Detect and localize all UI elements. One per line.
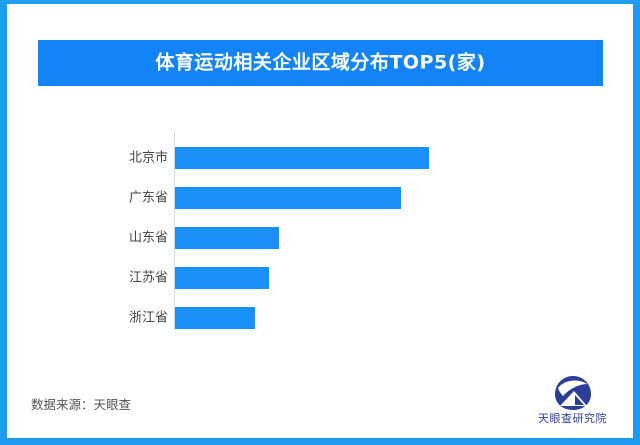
brand-logo: 天眼查研究院 [525,375,620,430]
bar-row: 浙江省 [7,298,633,338]
bar-row: 广东省 [7,178,633,218]
bar-category-label: 广东省 [48,192,168,205]
bar-zhejiang [175,307,255,329]
bar-category-label: 山东省 [48,232,168,245]
bar-category-label: 浙江省 [48,312,168,325]
bar-chart: 北京市 广东省 山东省 江苏省 [7,4,633,438]
bar-category-label: 北京市 [48,152,168,165]
bar-label-wrap: 北京市 [42,138,168,178]
bar-beijing [175,147,429,169]
bar-row: 北京市 [7,138,633,178]
bar-label-wrap: 江苏省 [42,258,168,298]
bar-row: 山东省 [7,218,633,258]
bar-label-wrap: 浙江省 [42,298,168,338]
chart-screenshot: 体育运动相关企业区域分布TOP5(家) 北京市 广东省 山东省 [0,0,640,445]
brand-logo-text: 天眼查研究院 [525,413,620,424]
bar-row: 江苏省 [7,258,633,298]
frame-right-edge [633,0,640,445]
page-canvas: 体育运动相关企业区域分布TOP5(家) 北京市 广东省 山东省 [7,4,633,438]
data-source-text: 数据来源：天眼查 [31,399,131,412]
bar-category-label: 江苏省 [48,272,168,285]
bar-label-wrap: 山东省 [42,218,168,258]
bar-guangdong [175,187,401,209]
frame-top-edge [0,0,640,4]
bar-label-wrap: 广东省 [42,178,168,218]
bar-shandong [175,227,279,249]
frame-bottom-edge [0,438,640,445]
frame-left-edge [0,0,7,445]
bar-jiangsu [175,267,269,289]
tianyancha-eye-logo-icon [554,375,592,411]
